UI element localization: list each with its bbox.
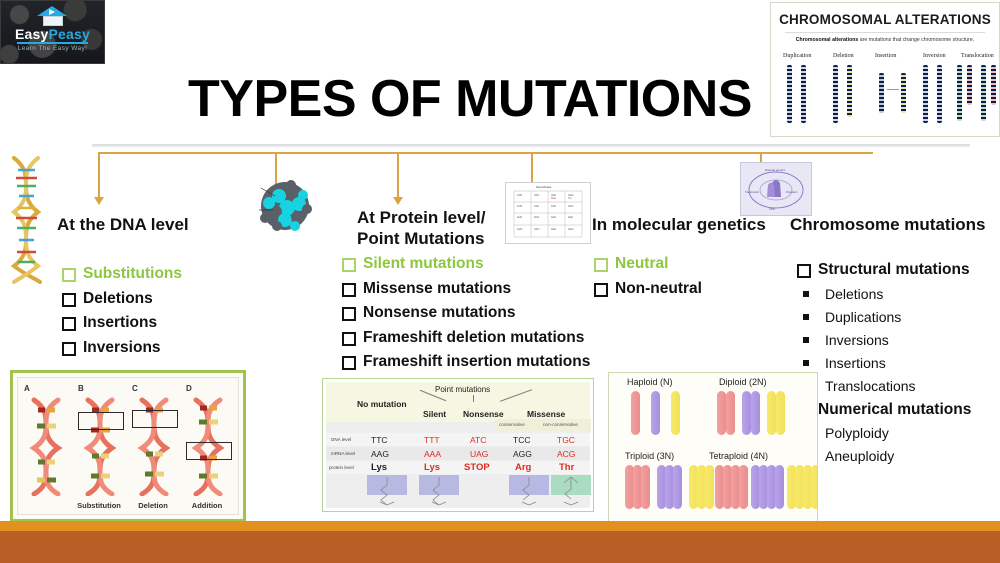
graduation-cap-play-icon xyxy=(37,6,67,24)
checkbox-icon xyxy=(342,307,356,321)
column-heading-protein-level: At Protein level/ Point Mutations xyxy=(357,207,537,249)
ploidy-label: Triploid (3N) xyxy=(625,451,674,461)
heading-line-1: At Protein level/ xyxy=(357,207,537,228)
list-item[interactable]: Frameshift insertion mutations xyxy=(340,350,590,375)
bullet-square-icon xyxy=(803,360,809,366)
ploidy-label: Diploid (2N) xyxy=(719,377,767,387)
logo-word-easy: Easy xyxy=(15,26,49,42)
list-item[interactable]: Inversions xyxy=(60,336,182,361)
list-item[interactable]: Deletions xyxy=(795,283,971,306)
list-item[interactable]: Numerical mutations xyxy=(795,398,971,423)
table-cell: Arg xyxy=(515,462,531,473)
table-cell: Lys xyxy=(371,462,387,473)
chromosomal-alterations-image: CHROMOSOMAL ALTERATIONS Chromosomal alte… xyxy=(770,2,1000,137)
checkbox-icon xyxy=(62,268,76,282)
footer-bar xyxy=(0,531,1000,563)
checkbox-icon xyxy=(342,332,356,346)
list-item[interactable]: Insertions xyxy=(795,352,971,375)
logo-tagline: Learn The Easy Way! xyxy=(1,45,104,52)
slide-canvas: EasyPeasy Learn The Easy Way! TYPES OF M… xyxy=(0,0,1000,563)
bullet-square-icon xyxy=(803,337,809,343)
list-molecular-genetics: Neutral Non-neutral xyxy=(592,252,702,301)
list-protein-level: Silent mutations Missense mutations Nons… xyxy=(340,252,590,375)
svg-text:CGU: CGU xyxy=(568,205,574,208)
table-cell: TTC xyxy=(371,435,388,445)
ploidy-label: Tetraploid (4N) xyxy=(709,451,768,461)
logo-word-peasy: Peasy xyxy=(49,26,90,42)
checkbox-icon xyxy=(342,356,356,370)
checkbox-icon xyxy=(342,258,356,272)
table-cell: TGC xyxy=(557,435,575,445)
list-item[interactable]: Deletions xyxy=(60,287,182,312)
table-subcol-non-conservative: non-conservative xyxy=(543,422,578,427)
list-item[interactable]: Translocations xyxy=(795,375,971,398)
column-heading-dna-level: At the DNA level xyxy=(57,214,257,235)
chromosomal-alterations-title: CHROMOSOMAL ALTERATIONS xyxy=(771,12,999,27)
dna-caption: Substitution xyxy=(74,501,124,510)
table-row-label: mRNA level xyxy=(331,451,355,456)
svg-text:Transmission: Transmission xyxy=(745,191,760,194)
list-item[interactable]: Structural mutations xyxy=(795,258,971,283)
heading-line-2: Point Mutations xyxy=(357,228,537,249)
svg-text:UUU: UUU xyxy=(517,194,522,197)
dna-mutation-types-image: A B xyxy=(10,370,246,522)
title-divider xyxy=(92,144,970,147)
list-item[interactable]: Duplications xyxy=(795,306,971,329)
table-group-header: Point mutations xyxy=(435,385,490,394)
column-heading-chromosome-mutations: Chromosome mutations xyxy=(790,214,1000,235)
table-cell: AGG xyxy=(513,449,532,459)
checkbox-icon xyxy=(62,342,76,356)
chromosome-illustrations xyxy=(771,65,999,127)
table-cell: TTT xyxy=(424,435,440,445)
svg-text:Stop: Stop xyxy=(551,197,557,200)
svg-text:Population: Population xyxy=(786,191,798,194)
svg-text:Other: Other xyxy=(769,208,775,211)
dna-caption: Addition xyxy=(182,501,232,510)
table-cell: ACG xyxy=(557,449,575,459)
chromosomal-alterations-subtitle: Chromosomal alterations are mutations th… xyxy=(781,36,989,44)
list-dna-level: Substitutions Deletions Insertions Inver… xyxy=(60,262,182,360)
svg-text:AAU: AAU xyxy=(551,216,556,219)
logo-wordmark: EasyPeasy xyxy=(1,27,104,41)
svg-text:Second base: Second base xyxy=(536,185,552,189)
list-item[interactable]: Polyploidy xyxy=(795,422,971,445)
table-subcol-conservative: conservative xyxy=(499,422,525,427)
logo-divider xyxy=(17,42,88,44)
panel-label: A xyxy=(24,384,30,393)
table-cell: STOP xyxy=(464,462,490,473)
table-cell: TCC xyxy=(513,435,530,445)
list-item[interactable]: Aneuploidy xyxy=(795,445,971,468)
point-mutation-table-image: Point mutations No mutation Silent Nonse… xyxy=(322,378,594,512)
dna-double-helix-icon xyxy=(4,156,50,284)
table-cell: Thr xyxy=(559,462,574,473)
table-cell: AAG xyxy=(371,449,389,459)
column-heading-molecular-genetics: In molecular genetics xyxy=(592,214,787,235)
ploidy-types-image: Haploid (N) Diploid (2N) Triploid (3N) T… xyxy=(608,372,818,522)
checkbox-icon xyxy=(62,317,76,331)
footer-accent-bar xyxy=(0,521,1000,531)
bullet-square-icon xyxy=(803,291,809,297)
list-item[interactable]: Missense mutations xyxy=(340,277,590,302)
table-col-silent: Silent xyxy=(423,409,446,419)
page-title: TYPES OF MUTATIONS xyxy=(120,68,820,130)
list-item[interactable]: Inversions xyxy=(795,329,971,352)
list-item[interactable]: Nonsense mutations xyxy=(340,301,590,326)
svg-text:GGU: GGU xyxy=(568,228,574,231)
svg-text:UCU: UCU xyxy=(534,194,539,197)
table-row-label: protein level xyxy=(329,465,354,470)
molecular-genetics-diagram-icon: Molecular genetics Transmission Populati… xyxy=(740,162,812,216)
panel-label: B xyxy=(78,384,84,393)
svg-text:GAU: GAU xyxy=(551,228,556,231)
table-col-nonsense: Nonsense xyxy=(463,409,504,419)
table-cell: ATC xyxy=(470,435,486,445)
bullet-square-icon xyxy=(803,314,809,320)
svg-text:AGU: AGU xyxy=(568,216,573,219)
protein-space-filling-model-icon xyxy=(255,176,327,238)
table-col-missense: Missense xyxy=(527,409,565,419)
checkbox-icon xyxy=(342,283,356,297)
easypeasy-logo[interactable]: EasyPeasy Learn The Easy Way! xyxy=(0,0,105,64)
table-row-label: DNA level xyxy=(331,437,351,442)
list-chromosome-mutations: Structural mutations Deletions Duplicati… xyxy=(795,258,971,468)
list-item[interactable]: Neutral xyxy=(592,252,702,277)
checkbox-icon xyxy=(594,283,608,297)
table-col-no-mutation: No mutation xyxy=(357,399,407,409)
checkbox-icon xyxy=(797,264,811,278)
table-cell: AAA xyxy=(424,449,441,459)
panel-label: D xyxy=(186,384,192,393)
list-item[interactable]: Non-neutral xyxy=(592,277,702,302)
list-item[interactable]: Frameshift deletion mutations xyxy=(340,326,590,351)
chromosomal-alterations-labels: Duplication Deletion Insertion Inversion… xyxy=(771,53,999,63)
svg-text:CAU: CAU xyxy=(551,205,556,208)
table-cell: UAG xyxy=(470,449,488,459)
panel-label: C xyxy=(132,384,138,393)
dna-caption: Deletion xyxy=(128,501,178,510)
list-item[interactable]: Silent mutations xyxy=(340,252,590,277)
svg-text:Molecular genetics: Molecular genetics xyxy=(765,169,786,172)
checkbox-icon xyxy=(594,258,608,272)
list-item[interactable]: Insertions xyxy=(60,311,182,336)
table-cell: Lys xyxy=(424,462,440,473)
checkbox-icon xyxy=(62,293,76,307)
list-item[interactable]: Substitutions xyxy=(60,262,182,287)
ploidy-label: Haploid (N) xyxy=(627,377,673,387)
